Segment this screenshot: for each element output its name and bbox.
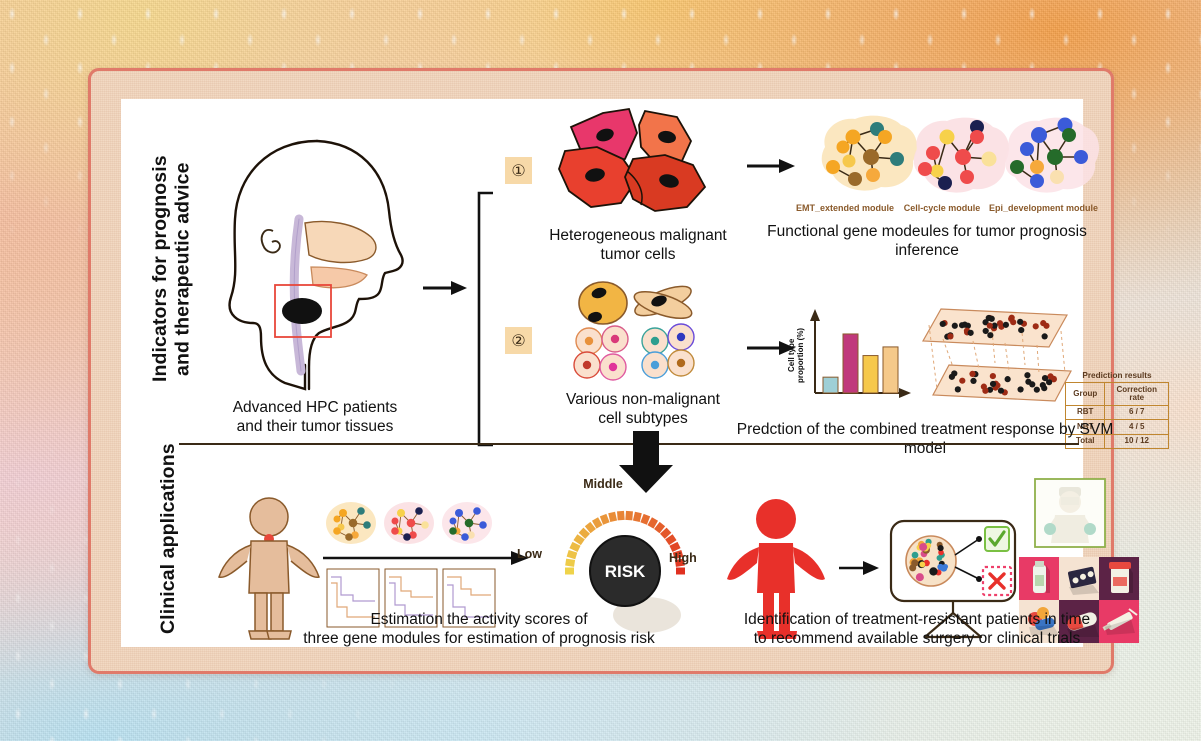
caption-gene-modules: Functional gene modeules for tumor progn… [757, 223, 1097, 260]
section-label-prognosis: Indicators for prognosisand therapeutic … [149, 119, 194, 419]
svm-point [970, 378, 976, 384]
mini-gene-modules [325, 499, 493, 547]
svm-point [987, 323, 993, 329]
svm-point [1042, 333, 1048, 339]
gauge-tick [603, 515, 606, 523]
gauge-tick [595, 519, 600, 527]
svm-point [997, 320, 1003, 326]
cell-dot [916, 573, 924, 581]
svm-point [1040, 382, 1046, 388]
section-label-clinical: Clinical applications [157, 439, 179, 639]
branch-number-one: ① [505, 157, 532, 184]
nonmalignant-cells-illustration [559, 279, 729, 389]
svm-point [955, 386, 961, 392]
bar-2 [843, 334, 858, 393]
svm-point [1034, 387, 1040, 393]
svm-point [949, 374, 955, 380]
medicine-jar-icon [1109, 562, 1133, 593]
caption-clinical-left: Estimation the activity scores of three … [269, 611, 689, 648]
figure-panel: Indicators for prognosisand therapeutic … [121, 99, 1083, 647]
cell-rate: 6 / 7 [1105, 405, 1169, 419]
arrow-head-to-branches-icon [421, 277, 469, 299]
svm-point [1040, 320, 1046, 326]
risk-label-middle: Middle [543, 477, 663, 491]
pred-col-rate: Correction rate [1105, 383, 1169, 406]
svm-point [1046, 379, 1052, 385]
pred-col-group: Group [1066, 383, 1105, 406]
gauge-tick [651, 519, 656, 527]
cell-dot [919, 562, 925, 568]
cell-dot [937, 564, 943, 570]
gauge-tick [566, 562, 575, 563]
risk-gauge-center-label: RISK [605, 562, 646, 581]
gauge-tick [621, 511, 622, 520]
prediction-results-title: Prediction results [1065, 371, 1169, 380]
svm-point [1017, 319, 1023, 325]
svm-point [1003, 322, 1009, 328]
gauge-tick [644, 515, 647, 523]
malignant-tumor-cells-illustration [541, 107, 731, 227]
arrow-modules-to-risk-icon [321, 547, 531, 569]
table-row: RBT6 / 7 [1066, 405, 1169, 419]
svm-point [940, 321, 946, 327]
svm-point [1025, 379, 1031, 385]
arrow-to-gene-modules-icon [745, 155, 797, 177]
caption-nonmalignant-cells: Various non-malignant cell subtypes [535, 391, 751, 428]
gauge-tick [667, 537, 674, 542]
gauge-tick [581, 530, 588, 536]
gauge-tick [657, 524, 663, 531]
svm-point [990, 381, 996, 387]
svm-point [1008, 316, 1014, 322]
svm-point [1024, 372, 1030, 378]
svm-point [983, 328, 989, 334]
arrow-patient-to-screen-icon [837, 557, 881, 579]
caption-svm: Predction of the combined treatment resp… [729, 421, 1121, 458]
gauge-tick [629, 511, 630, 520]
gauge-tick [671, 545, 679, 549]
svm-point [952, 323, 958, 329]
svm-point [982, 388, 988, 394]
svm-point [990, 373, 996, 379]
gauge-tick [662, 530, 669, 536]
chart-y-axis-label: Cell type proportion (%) [787, 313, 805, 397]
risk-label-high: High [669, 551, 697, 565]
bar-3 [863, 356, 878, 393]
svm-point [987, 332, 993, 338]
svm-point [1018, 327, 1024, 333]
cell-dot [919, 543, 927, 551]
svm-point [968, 330, 974, 336]
svm-point [1017, 386, 1023, 392]
risk-label-low: Low [517, 547, 542, 561]
gauge-tick [636, 513, 638, 522]
branch-bracket [475, 191, 497, 449]
svm-point [1047, 373, 1053, 379]
bar-1 [823, 377, 838, 393]
svm-point [998, 388, 1004, 394]
cell-group: RBT [1066, 405, 1105, 419]
surgeon-illustration [1033, 477, 1107, 549]
branch-number-two: ② [505, 327, 532, 354]
cell-dot [929, 567, 937, 575]
svm-point [1033, 323, 1039, 329]
tumor-marker [282, 298, 322, 324]
module-label-epidev: Epi_development module [981, 203, 1106, 213]
cell-dot [937, 555, 943, 561]
svm-point [969, 371, 975, 377]
gene-modules-illustration [807, 111, 1087, 211]
caption-malignant-cells: Heterogeneous malignant tumor cells [535, 227, 741, 264]
caption-clinical-right: Identification of treatment-resistant pa… [707, 611, 1127, 648]
gauge-tick [568, 553, 577, 556]
gauge-tick [612, 513, 614, 522]
svm-point [959, 378, 965, 384]
svm-point [947, 333, 953, 339]
bar-4 [883, 347, 898, 393]
gauge-tick [571, 545, 579, 549]
cell-dot [938, 545, 944, 551]
svm-point [1005, 376, 1011, 382]
cell-dot [912, 552, 919, 559]
head-anatomy-illustration [209, 127, 419, 397]
figure-frame: Indicators for prognosisand therapeutic … [88, 68, 1114, 674]
gauge-tick [575, 537, 582, 542]
svm-point [962, 322, 968, 328]
cell-dot [911, 559, 918, 566]
cell-dot [943, 564, 948, 569]
gauge-tick [588, 524, 594, 531]
cell-type-proportion-bar-chart [807, 307, 911, 399]
caption-patient: Advanced HPC patients and their tumor ti… [181, 399, 449, 436]
svm-point [989, 316, 995, 322]
svm-hyperplane-illustration [921, 305, 1071, 405]
